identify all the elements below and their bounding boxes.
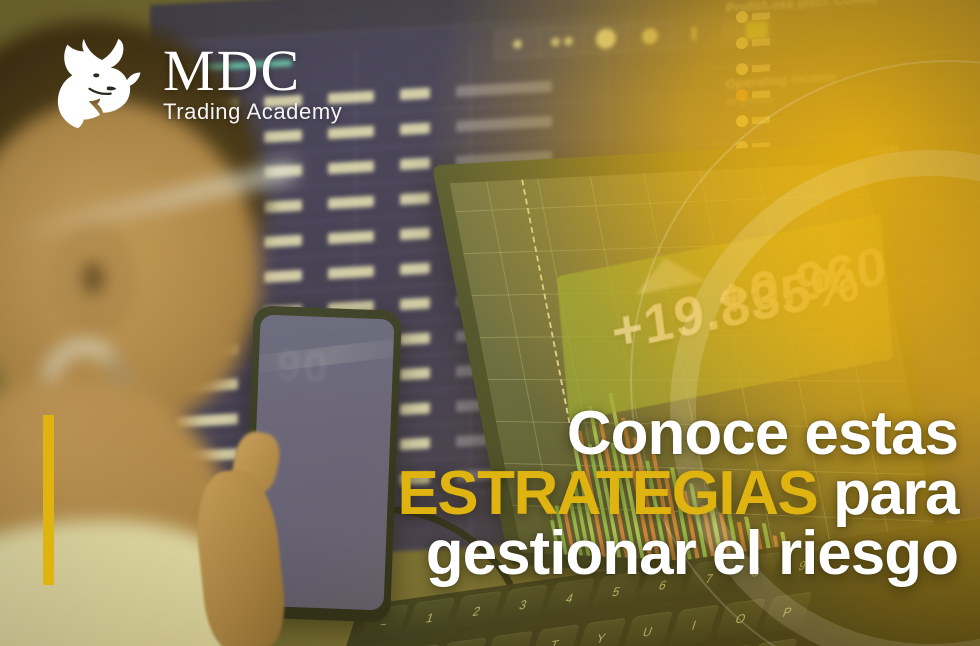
key: I [668,605,719,646]
brand-tagline: Trading Academy [163,99,342,125]
key: Y [575,618,626,646]
headline-line-1: Conoce estas [397,404,958,464]
bull-head-icon [55,33,151,135]
key: O [715,598,766,640]
brand-logo[interactable]: MDC Trading Academy [55,33,342,135]
headline-line-3: gestionar el riesgo [397,524,958,584]
key: P [762,591,813,633]
key: 2 [451,591,502,633]
headline-emphasis: ESTRATEGIAS [397,459,817,528]
dots-icon [540,26,584,56]
ear [55,225,133,330]
circle-icon [584,23,628,53]
logo-wordmark: MDC Trading Academy [163,33,342,125]
key: T [529,624,580,646]
brand-name: MDC [163,45,342,97]
headline: Conoce estas ESTRATEGIAS para gestionar … [397,404,958,584]
promo-banner: Profit/Loss (excl. COGS) Operating incom… [0,0,980,646]
statement-line-sub: w/ growth [726,93,773,108]
key: 1 [404,597,455,639]
droplet-icon [496,28,540,58]
accent-bar [43,415,54,585]
statement-line-title: Profit/Loss (excl. COGS) [726,0,877,15]
key: 3 [497,584,548,626]
key: R [482,631,533,646]
key: U [622,611,673,646]
pie-icon [628,21,672,51]
key: ; [746,638,797,646]
key: E [436,637,487,646]
headline-line-2-rest: para [817,459,958,528]
headline-line-2: ESTRATEGIAS para [397,464,958,524]
statement-line-title: Operating income [726,69,837,92]
